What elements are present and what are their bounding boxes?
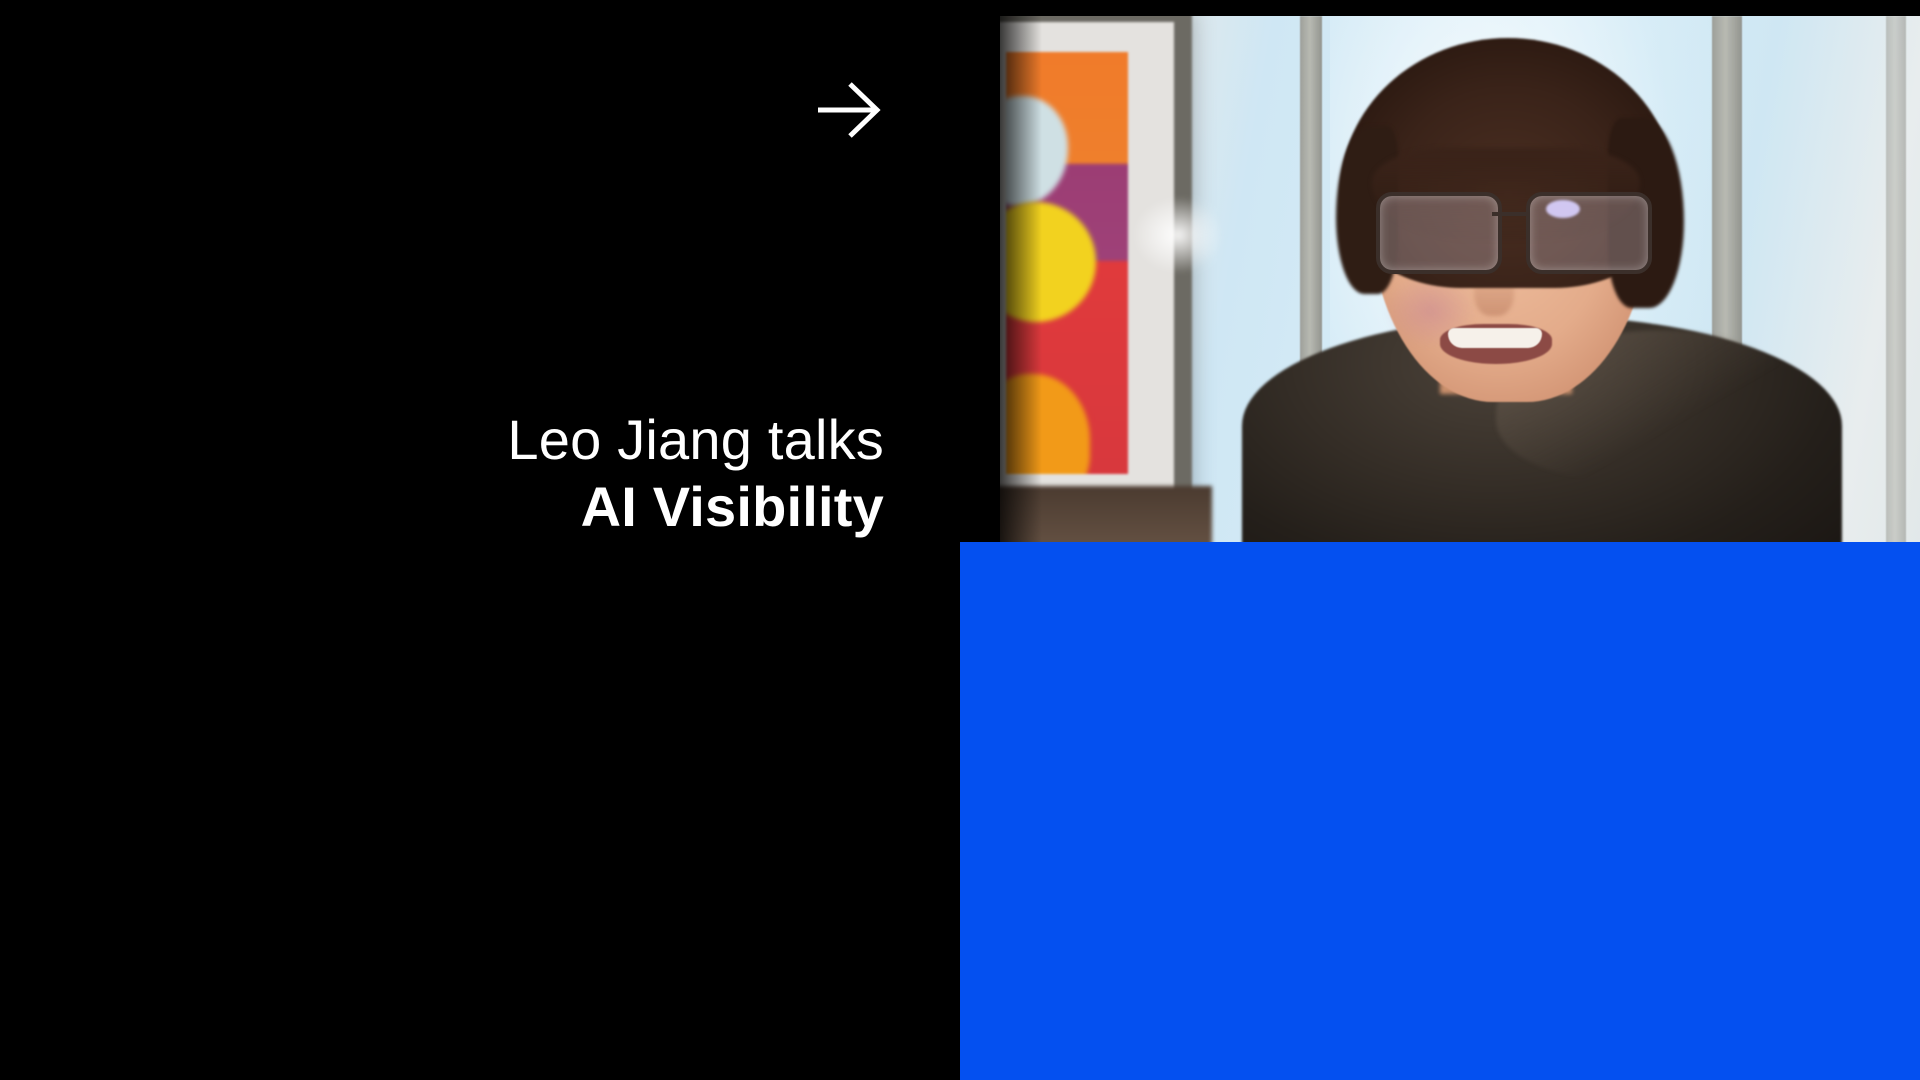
headline-line-2: AI Visibility (0, 474, 884, 540)
artwork-glare (1132, 196, 1224, 274)
video-subject (1252, 30, 1812, 558)
glasses-lens-right (1526, 192, 1652, 274)
video-thumbnail[interactable] (1000, 16, 1920, 558)
window-mullion (1886, 16, 1906, 558)
page-title: Leo Jiang talks AI Visibility (0, 407, 884, 539)
video-left-vignette (1000, 16, 1042, 558)
subject-teeth (1448, 328, 1542, 348)
headline-line-1: Leo Jiang talks (0, 407, 884, 473)
subject-glasses (1374, 192, 1656, 270)
glasses-lens-left (1376, 192, 1502, 274)
glasses-glint (1546, 200, 1580, 218)
blue-color-block (960, 542, 1920, 1080)
glasses-bridge (1492, 212, 1530, 216)
arrow-right-glyph (812, 74, 888, 146)
left-content-panel: Leo Jiang talks AI Visibility (0, 0, 960, 1080)
media-column (960, 0, 1920, 1080)
arrow-right-icon[interactable] (812, 74, 888, 146)
slide-root: Leo Jiang talks AI Visibility (0, 0, 1920, 1080)
